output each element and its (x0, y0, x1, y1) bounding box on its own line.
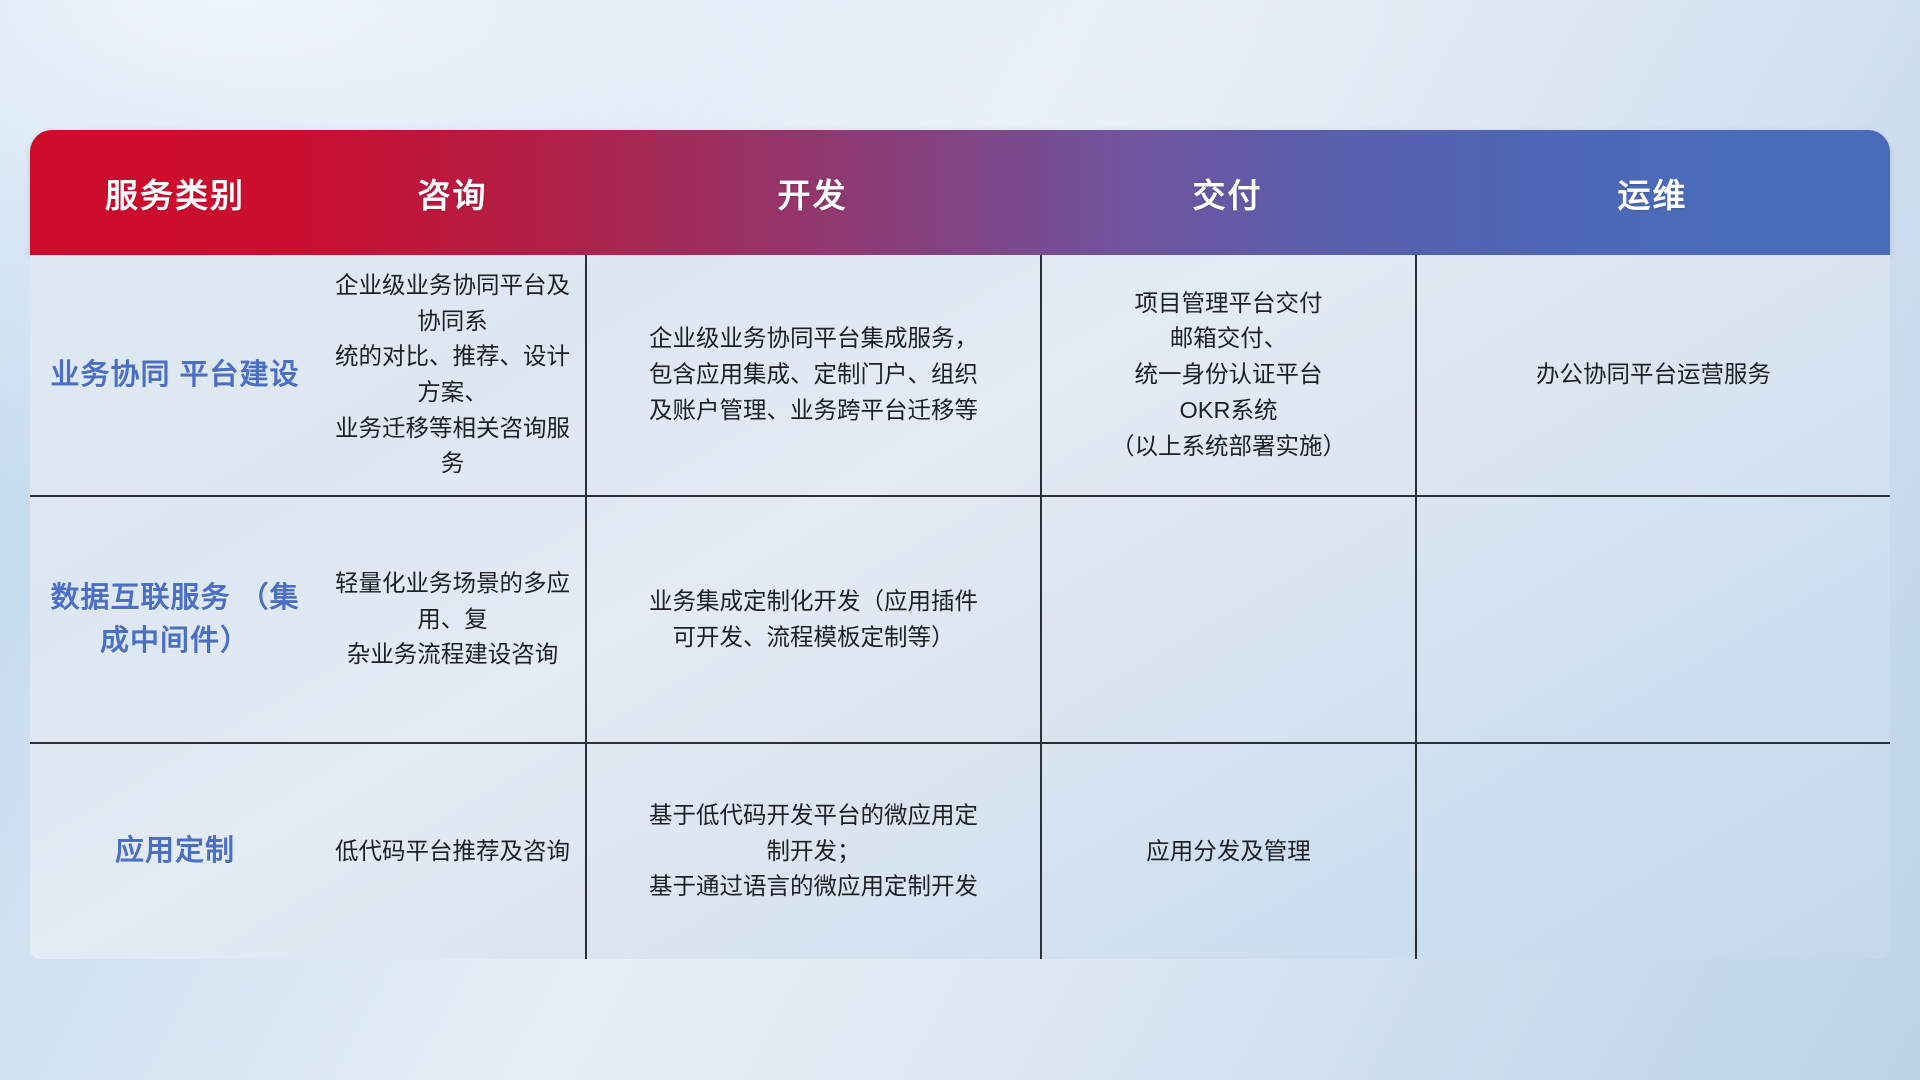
column-header-consulting: 咨询 (320, 130, 585, 255)
column-header-label: 服务类别 (105, 169, 245, 217)
column-header-operations: 运维 (1415, 130, 1890, 255)
row-category-label: 应用定制 (115, 830, 235, 872)
cell-text: 企业级业务协同平台及协同系 统的对比、推荐、设计方案、 业务迁移等相关咨询服务 (334, 268, 571, 482)
cell-delivery: 应用分发及管理 (1040, 744, 1415, 959)
cell-development: 基于低代码开发平台的微应用定 制开发； 基于通过语言的微应用定制开发 (585, 744, 1040, 959)
cell-text: 业务集成定制化开发（应用插件 可开发、流程模板定制等） (649, 584, 978, 655)
cell-development: 业务集成定制化开发（应用插件 可开发、流程模板定制等） (585, 497, 1040, 742)
table-body: 业务协同 平台建设 企业级业务协同平台及协同系 统的对比、推荐、设计方案、 业务… (30, 255, 1890, 959)
column-header-service-category: 服务类别 (30, 130, 320, 255)
cell-delivery: 项目管理平台交付 邮箱交付、 统一身份认证平台 OKR系统 （以上系统部署实施） (1040, 255, 1415, 495)
row-category-cell: 应用定制 (30, 744, 320, 959)
cell-text: 低代码平台推荐及咨询 (335, 834, 570, 870)
cell-text: 项目管理平台交付 邮箱交付、 统一身份认证平台 OKR系统 （以上系统部署实施） (1111, 286, 1346, 465)
column-header-label: 开发 (778, 169, 848, 217)
row-category-label: 数据互联服务 （集成中间件） (44, 577, 306, 661)
row-category-label: 业务协同 平台建设 (50, 354, 299, 396)
cell-delivery (1040, 497, 1415, 742)
row-category-cell: 业务协同 平台建设 (30, 255, 320, 495)
service-matrix-table: 服务类别 咨询 开发 交付 运维 业务协同 平台建设 (30, 130, 1890, 955)
cell-consulting: 轻量化业务场景的多应用、复 杂业务流程建设咨询 (320, 497, 585, 742)
cell-development: 企业级业务协同平台集成服务， 包含应用集成、定制门户、组织 及账户管理、业务跨平… (585, 255, 1040, 495)
row-category-cell: 数据互联服务 （集成中间件） (30, 497, 320, 742)
cell-consulting: 低代码平台推荐及咨询 (320, 744, 585, 959)
column-header-label: 咨询 (418, 169, 488, 217)
cell-consulting: 企业级业务协同平台及协同系 统的对比、推荐、设计方案、 业务迁移等相关咨询服务 (320, 255, 585, 495)
cell-operations (1415, 497, 1890, 742)
cell-operations: 办公协同平台运营服务 (1415, 255, 1890, 495)
column-header-label: 运维 (1618, 169, 1688, 217)
cell-text: 基于低代码开发平台的微应用定 制开发； 基于通过语言的微应用定制开发 (649, 798, 978, 905)
table-row: 应用定制 低代码平台推荐及咨询 基于低代码开发平台的微应用定 制开发； 基于通过… (30, 742, 1890, 959)
cell-text: 办公协同平台运营服务 (1536, 357, 1771, 393)
column-header-label: 交付 (1193, 169, 1263, 217)
cell-text: 轻量化业务场景的多应用、复 杂业务流程建设咨询 (334, 566, 571, 673)
cell-text: 应用分发及管理 (1146, 834, 1311, 870)
table-header-row: 服务类别 咨询 开发 交付 运维 (30, 130, 1890, 255)
table-row: 数据互联服务 （集成中间件） 轻量化业务场景的多应用、复 杂业务流程建设咨询 业… (30, 495, 1890, 742)
column-header-delivery: 交付 (1040, 130, 1415, 255)
table-row: 业务协同 平台建设 企业级业务协同平台及协同系 统的对比、推荐、设计方案、 业务… (30, 255, 1890, 495)
cell-text: 企业级业务协同平台集成服务， 包含应用集成、定制门户、组织 及账户管理、业务跨平… (649, 321, 978, 428)
column-header-development: 开发 (585, 130, 1040, 255)
slide-canvas: 服务类别 咨询 开发 交付 运维 业务协同 平台建设 (0, 0, 1920, 1080)
cell-operations (1415, 744, 1890, 959)
